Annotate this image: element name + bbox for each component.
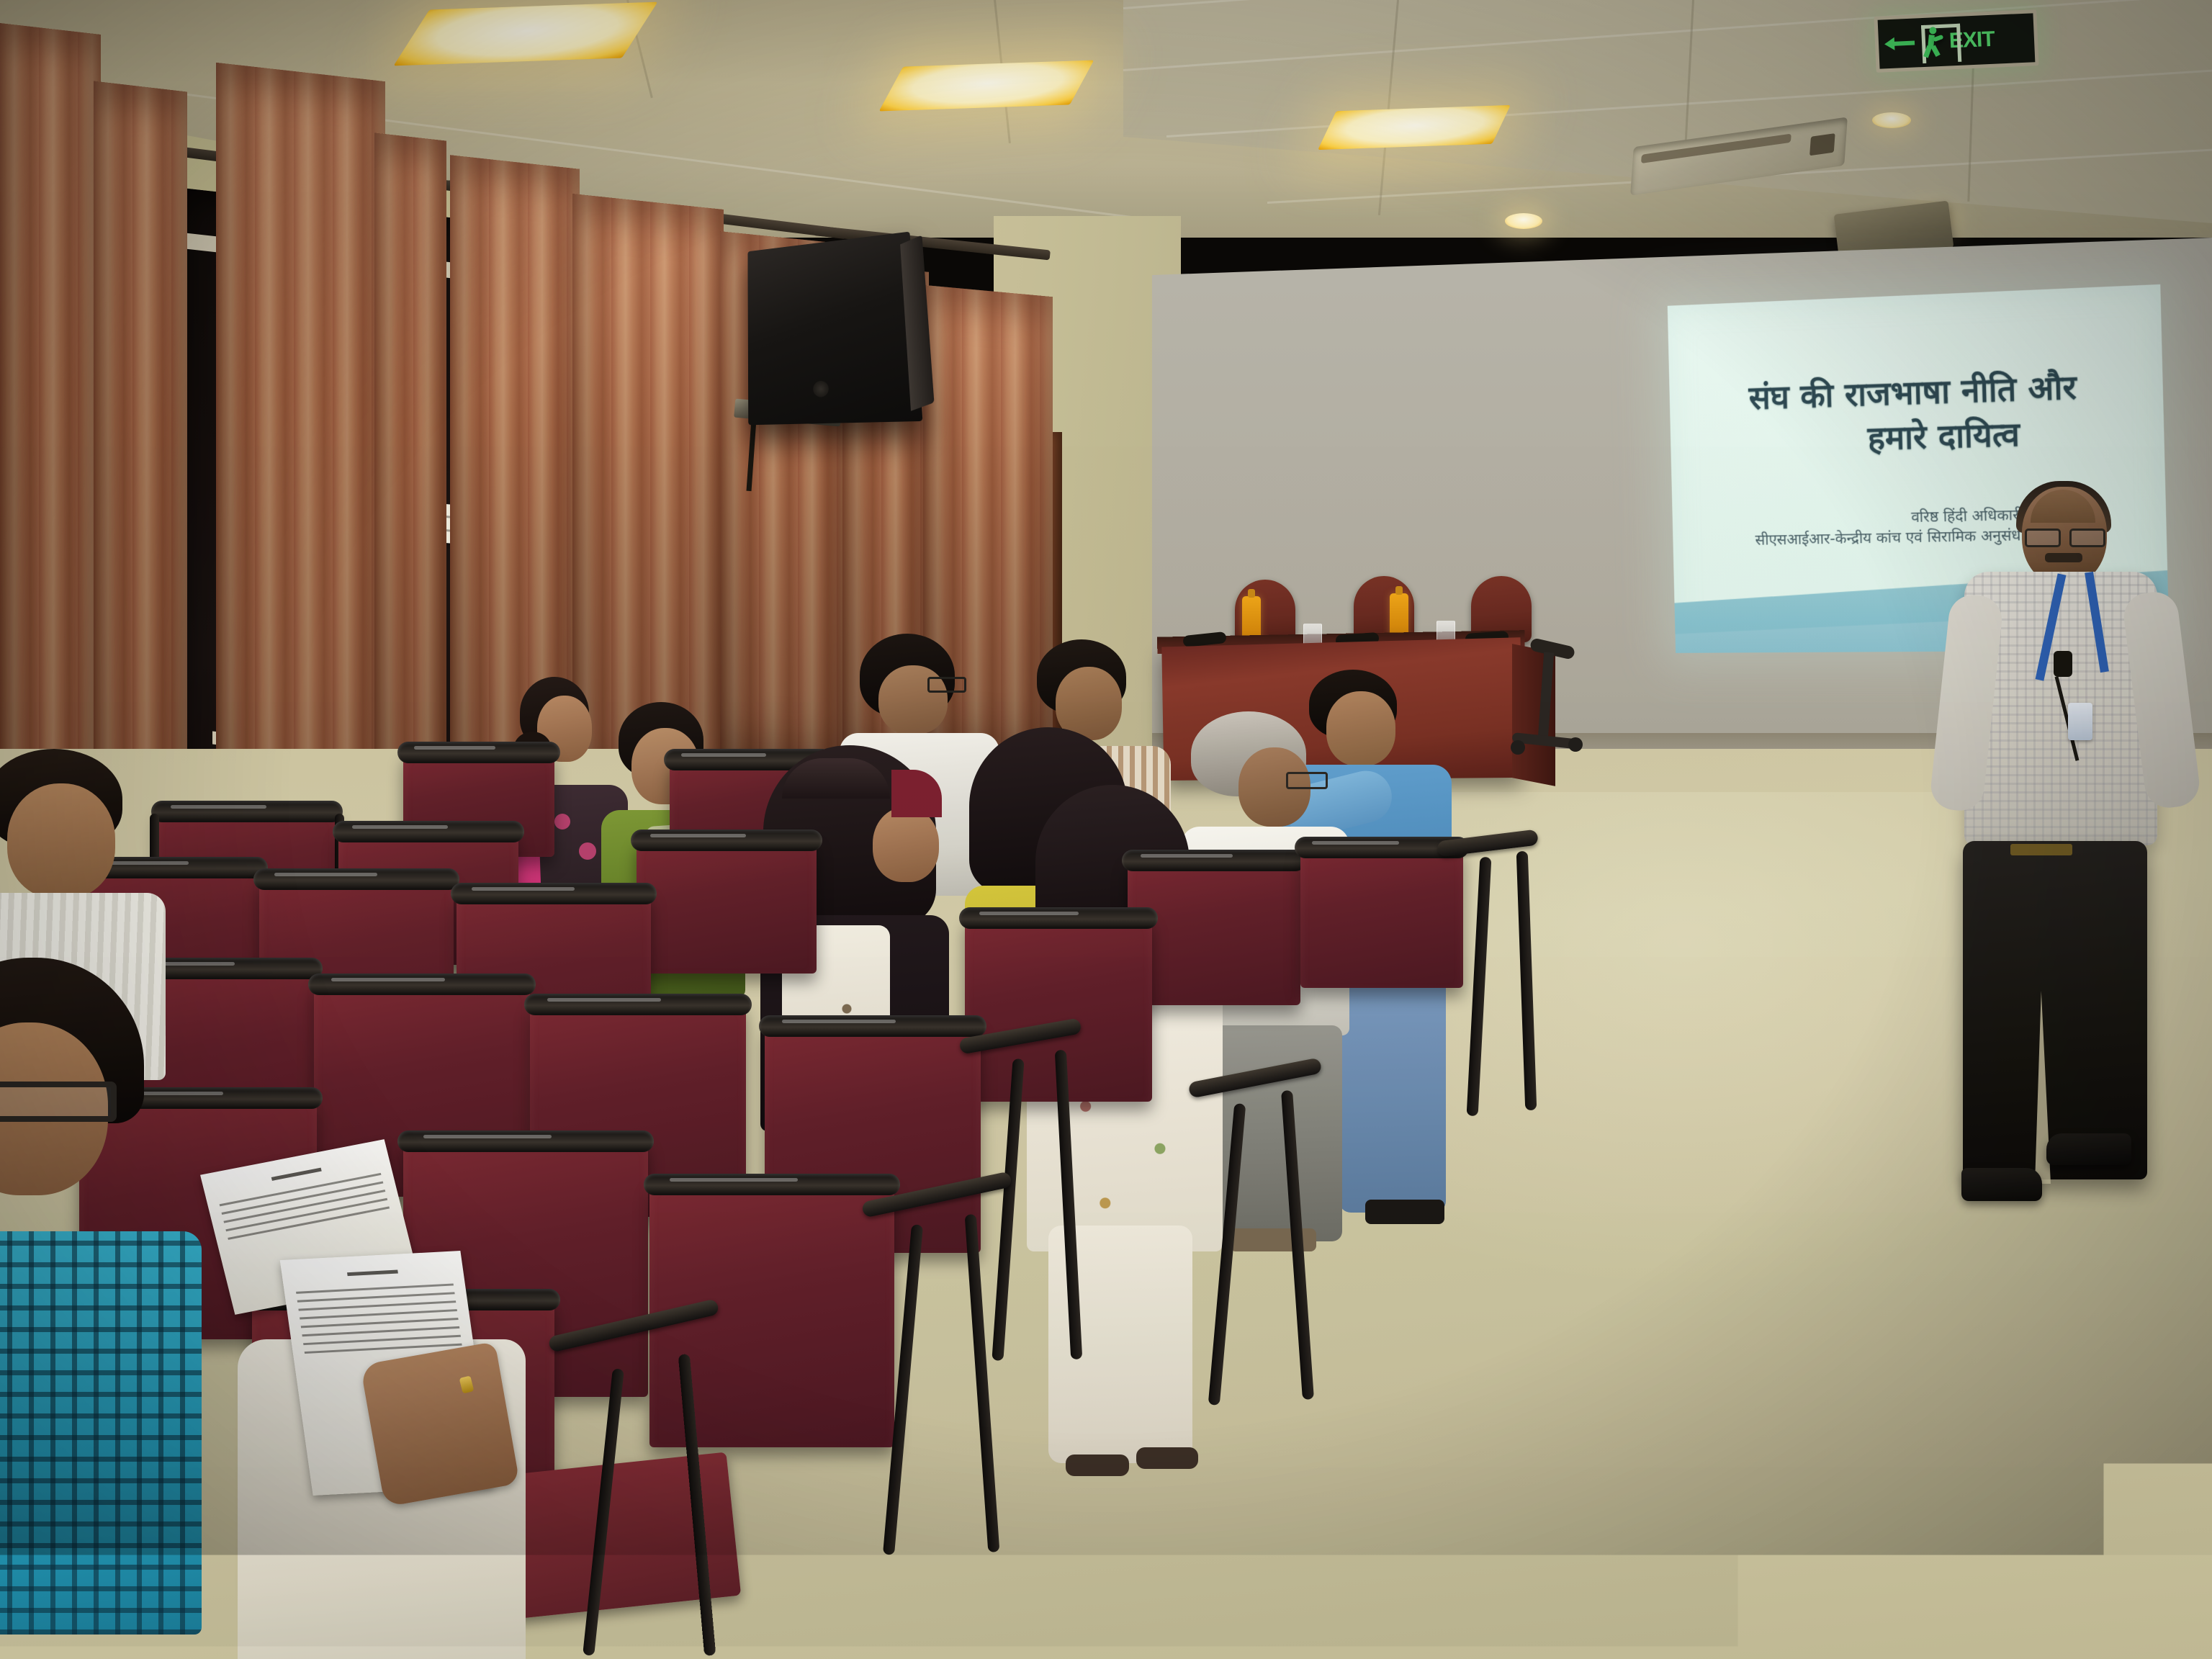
ceiling-light-panel xyxy=(1318,105,1511,150)
exit-sign: EXIT xyxy=(1874,9,2038,73)
arrow-left-icon xyxy=(1884,35,1917,52)
chair-caster xyxy=(1568,737,1583,752)
ceiling-downlight xyxy=(1505,213,1542,229)
auditorium-seat[interactable] xyxy=(637,837,817,974)
auditorium-seat[interactable] xyxy=(1128,857,1300,1005)
chair-caster xyxy=(1511,740,1525,755)
slide-title-line2: हमारे दायित्व xyxy=(1703,408,2128,465)
presenter-moustache xyxy=(2045,553,2082,562)
auditorium-seat[interactable] xyxy=(1300,844,1463,988)
ceiling-light-panel xyxy=(394,2,658,66)
running-man-icon xyxy=(1920,26,1946,58)
presenter-shoe xyxy=(2046,1133,2131,1165)
presenter xyxy=(1944,487,2182,1257)
ceiling-downlight xyxy=(1872,112,1911,128)
id-badge xyxy=(2068,703,2092,740)
pa-loudspeaker-icon xyxy=(747,232,922,426)
glasses-icon xyxy=(2025,529,2105,543)
lapel-microphone-icon xyxy=(2054,651,2072,677)
presenter-shoe xyxy=(1961,1168,2042,1201)
ceiling-light-panel xyxy=(879,60,1094,111)
slide-title: संघ की राजभाषा नीति और हमारे दायित्व xyxy=(1669,361,2164,466)
hand xyxy=(360,1341,520,1507)
auditorium-photo-scene: EXIT संघ की राजभाषा नीति और हमारे दायित्… xyxy=(0,0,2212,1659)
slide-title-line1: संघ की राजभाषा नीति और xyxy=(1748,367,2077,417)
presenter-belt xyxy=(2010,844,2072,855)
presenter-trousers xyxy=(1963,841,2147,1179)
